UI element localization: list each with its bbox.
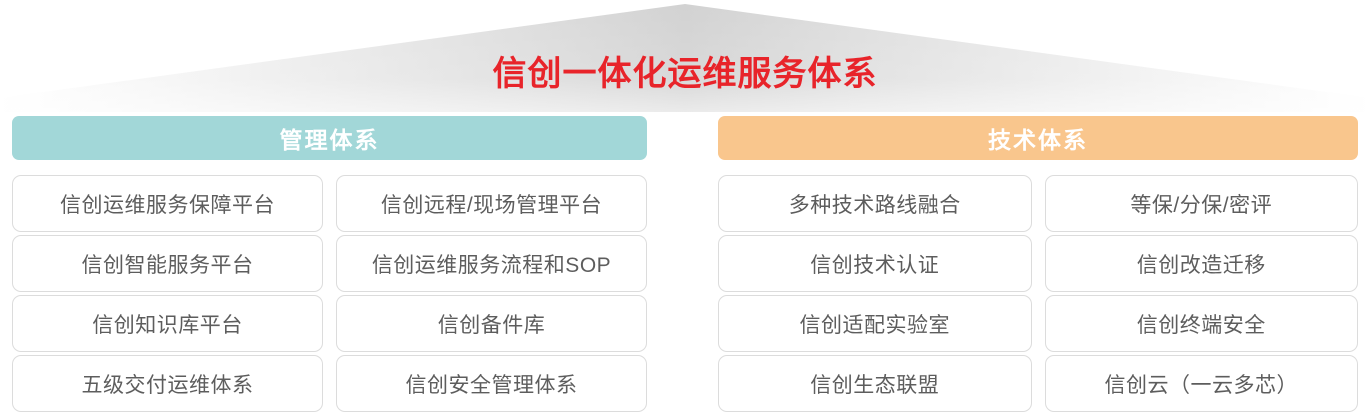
cell-item[interactable]: 信创运维服务流程和SOP — [336, 235, 647, 292]
panel-management: 管理体系 信创运维服务保障平台 信创智能服务平台 信创知识库平台 五级交付运维体… — [12, 116, 647, 412]
column-management-2: 信创远程/现场管理平台 信创运维服务流程和SOP 信创备件库 信创安全管理体系 — [336, 175, 647, 412]
cell-item[interactable]: 信创运维服务保障平台 — [12, 175, 323, 232]
cell-item[interactable]: 信创知识库平台 — [12, 295, 323, 352]
column-technical-2: 等保/分保/密评 信创改造迁移 信创终端安全 信创云（一云多芯） — [1045, 175, 1359, 412]
diagram-canvas: 信创一体化运维服务体系 管理体系 信创运维服务保障平台 信创智能服务平台 信创知… — [0, 0, 1370, 418]
panel-technical: 技术体系 多种技术路线融合 信创技术认证 信创适配实验室 信创生态联盟 等保/分… — [718, 116, 1358, 412]
cell-item[interactable]: 五级交付运维体系 — [12, 355, 323, 412]
panel-header-management: 管理体系 — [12, 116, 647, 160]
cell-item[interactable]: 信创远程/现场管理平台 — [336, 175, 647, 232]
cell-item[interactable]: 信创技术认证 — [718, 235, 1032, 292]
page-title: 信创一体化运维服务体系 — [0, 52, 1370, 96]
cell-item[interactable]: 等保/分保/密评 — [1045, 175, 1359, 232]
cell-item[interactable]: 信创终端安全 — [1045, 295, 1359, 352]
cell-item[interactable]: 信创生态联盟 — [718, 355, 1032, 412]
column-technical-1: 多种技术路线融合 信创技术认证 信创适配实验室 信创生态联盟 — [718, 175, 1032, 412]
cell-item[interactable]: 信创安全管理体系 — [336, 355, 647, 412]
panel-header-technical: 技术体系 — [718, 116, 1358, 160]
cell-item[interactable]: 信创改造迁移 — [1045, 235, 1359, 292]
cell-item[interactable]: 信创云（一云多芯） — [1045, 355, 1359, 412]
cell-item[interactable]: 信创备件库 — [336, 295, 647, 352]
column-management-1: 信创运维服务保障平台 信创智能服务平台 信创知识库平台 五级交付运维体系 — [12, 175, 323, 412]
cell-item[interactable]: 多种技术路线融合 — [718, 175, 1032, 232]
panel-grid-technical: 多种技术路线融合 信创技术认证 信创适配实验室 信创生态联盟 等保/分保/密评 … — [718, 175, 1358, 412]
panel-grid-management: 信创运维服务保障平台 信创智能服务平台 信创知识库平台 五级交付运维体系 信创远… — [12, 175, 647, 412]
cell-item[interactable]: 信创智能服务平台 — [12, 235, 323, 292]
cell-item[interactable]: 信创适配实验室 — [718, 295, 1032, 352]
